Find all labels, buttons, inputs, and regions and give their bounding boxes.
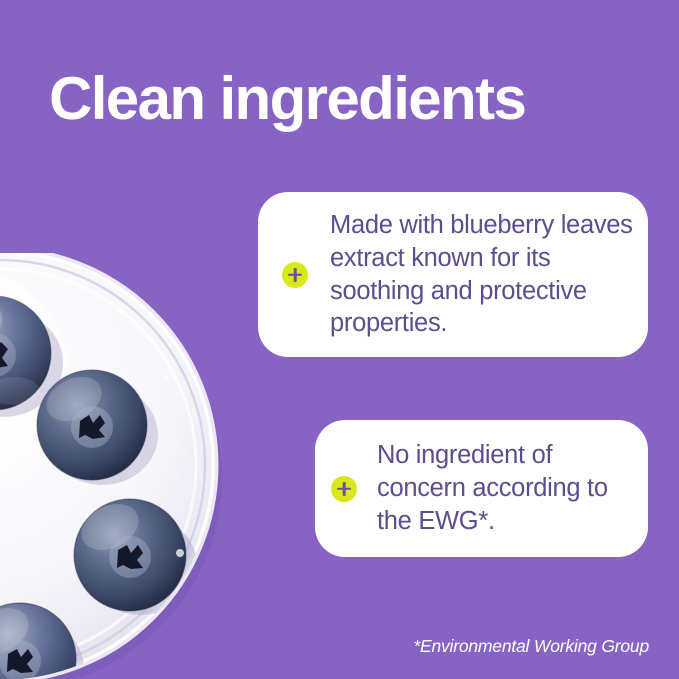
benefit-card-ingredients: Made with blueberry leaves extract known… (258, 192, 648, 357)
plus-icon (282, 262, 308, 288)
blueberry-petri-dish-photo (0, 253, 268, 679)
marketing-graphic: Clean ingredients Made with blueberry le… (0, 0, 679, 679)
benefit-card-ewg: No ingredient of concern according to th… (315, 420, 648, 557)
benefit-card-text: Made with blueberry leaves extract known… (330, 209, 634, 340)
footnote: *Environmental Working Group (413, 636, 649, 657)
plus-icon (331, 476, 357, 502)
benefit-card-text: No ingredient of concern according to th… (377, 439, 634, 538)
page-title: Clean ingredients (49, 67, 525, 130)
